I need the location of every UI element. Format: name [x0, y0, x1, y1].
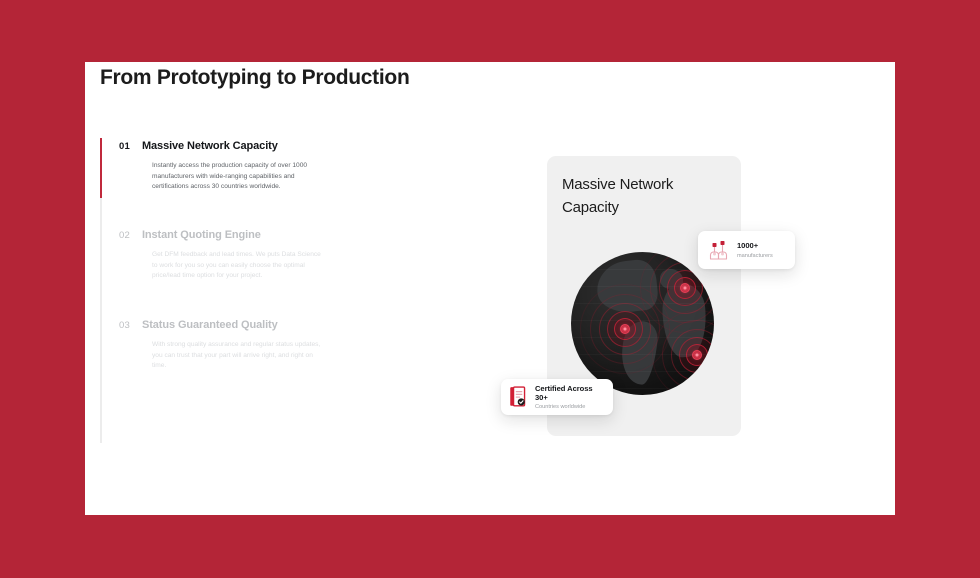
people-group-icon: [707, 240, 729, 260]
continent-africa: [660, 282, 708, 359]
step-header: 02 Instant Quoting Engine: [119, 229, 399, 241]
step-number: 01: [119, 141, 130, 152]
continent-europe: [660, 269, 683, 289]
badge-value: Certified Across 30+: [535, 384, 605, 402]
badge-label: manufacturers: [737, 253, 773, 259]
panel-title: Massive Network Capacity: [562, 174, 722, 219]
badge-manufacturers: 1000+ manufacturers: [698, 231, 795, 269]
globe-illustration: [571, 252, 714, 395]
step-item-01[interactable]: 01 Massive Network Capacity Instantly ac…: [119, 140, 399, 193]
continent-south-america: [619, 319, 661, 386]
step-item-02[interactable]: 02 Instant Quoting Engine Get DFM feedba…: [119, 229, 399, 282]
step-number: 03: [119, 320, 130, 331]
step-title: Status Guaranteed Quality: [142, 319, 278, 331]
step-header: 03 Status Guaranteed Quality: [119, 319, 399, 331]
step-title: Instant Quoting Engine: [142, 229, 261, 241]
continent-north-america: [594, 258, 659, 315]
badge-text-block: Certified Across 30+ Countries worldwide: [535, 384, 605, 411]
badge-text-block: 1000+ manufacturers: [737, 241, 773, 259]
badge-certified: Certified Across 30+ Countries worldwide: [501, 379, 613, 415]
globe-sphere: [571, 252, 714, 395]
step-title: Massive Network Capacity: [142, 140, 278, 152]
step-header: 01 Massive Network Capacity: [119, 140, 399, 152]
badge-label: Countries worldwide: [535, 404, 605, 410]
step-number: 02: [119, 230, 130, 241]
step-body: With strong quality assurance and regula…: [152, 340, 324, 372]
certificate-icon: [509, 386, 528, 408]
steps-progress-indicator: [100, 138, 102, 198]
step-item-03[interactable]: 03 Status Guaranteed Quality With strong…: [119, 319, 399, 372]
step-body: Instantly access the production capacity…: [152, 161, 324, 193]
steps-list: 01 Massive Network Capacity Instantly ac…: [100, 138, 405, 443]
step-body: Get DFM feedback and lead times. We puts…: [152, 250, 324, 282]
badge-value: 1000+: [737, 241, 773, 250]
page-title: From Prototyping to Production: [100, 66, 409, 90]
